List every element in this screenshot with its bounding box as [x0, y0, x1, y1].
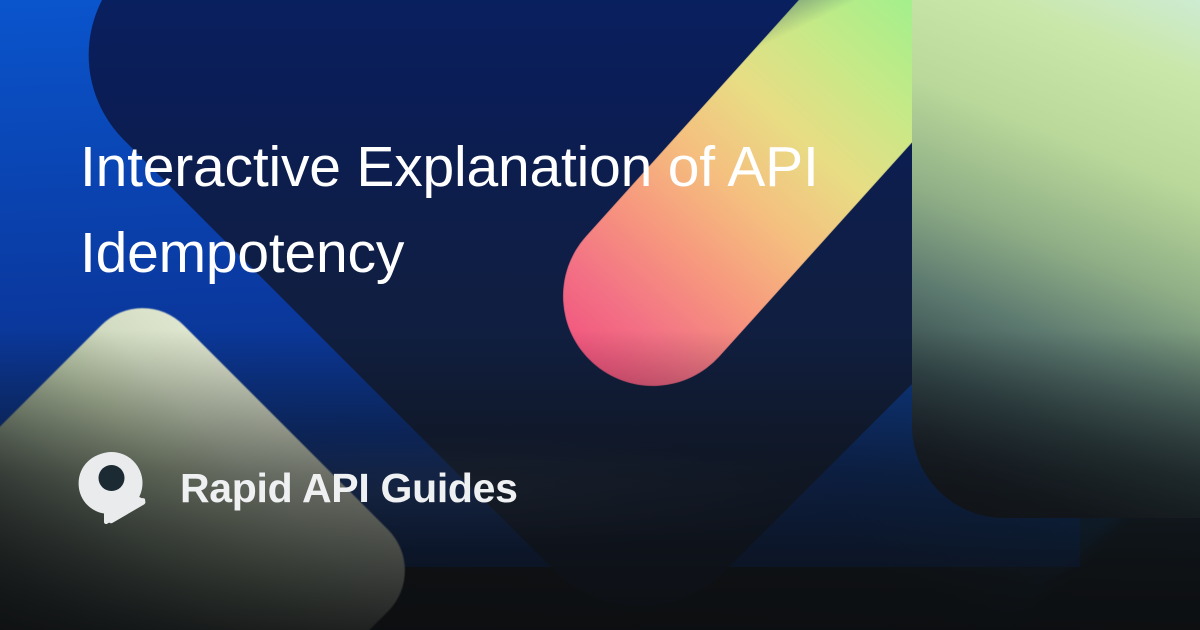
brand-name-label: Rapid API Guides — [180, 465, 518, 512]
social-card: Interactive Explanation of API Idempoten… — [0, 0, 1200, 630]
rapid-api-guides-logo-icon — [78, 452, 146, 524]
brand-lockup: Rapid API Guides — [78, 452, 518, 524]
card-content: Interactive Explanation of API Idempoten… — [0, 0, 1200, 630]
page-title: Interactive Explanation of API Idempoten… — [80, 124, 940, 296]
